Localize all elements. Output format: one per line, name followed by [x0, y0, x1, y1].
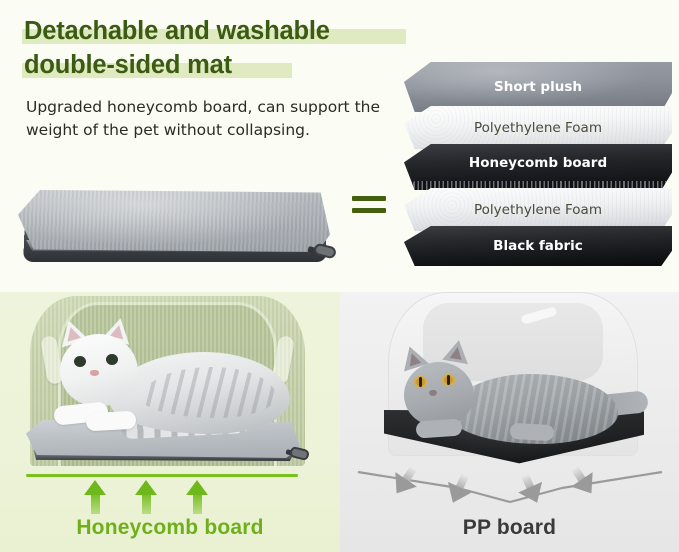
cat-eye-left — [414, 376, 427, 388]
zipper-icon — [286, 448, 308, 462]
cat-ear-right — [442, 338, 471, 364]
support-line-flat — [26, 474, 298, 477]
arrow-shaft — [91, 493, 100, 514]
headline-line-2-text: double-sided mat — [24, 51, 232, 79]
cat-head — [404, 362, 474, 426]
arrow-shaft — [142, 493, 151, 514]
equals-sign-icon — [352, 196, 386, 222]
arrow-head — [186, 480, 208, 495]
arrow-up-icon — [84, 480, 106, 514]
cat-head — [60, 334, 138, 406]
zipper-pull — [313, 243, 337, 260]
layer-label: Polyethylene Foam — [474, 120, 602, 136]
cat-white-tabby — [52, 324, 290, 442]
cat-eye-right — [442, 374, 455, 386]
cat-eye-left — [74, 356, 86, 367]
label-pp-board: PP board — [340, 516, 679, 540]
headline-line-1: Detachable and washable — [24, 14, 404, 48]
label-honeycomb-board: Honeycomb board — [0, 516, 340, 540]
layer-short-plush: Short plush — [404, 62, 672, 112]
cat-paw-front-right — [510, 423, 555, 441]
cat-nose — [429, 390, 437, 396]
layer-label: Honeycomb board — [469, 155, 607, 171]
comparison-panel-left: Honeycomb board — [0, 292, 340, 552]
comparison-section: Honeycomb board — [0, 292, 679, 552]
arrow-up-icon — [186, 480, 208, 514]
zipper-pull — [289, 446, 310, 461]
layer-label: Short plush — [494, 79, 582, 95]
headline: Detachable and washable double-sided mat — [24, 14, 404, 82]
mat-top-surface — [18, 190, 330, 252]
cat-nose — [90, 370, 99, 376]
mat-illustration — [10, 178, 340, 283]
layer-black-fabric: Black fabric — [404, 226, 672, 266]
top-section: Detachable and washable double-sided mat… — [0, 0, 679, 292]
equals-bar-top — [352, 196, 386, 201]
product-infographic: Detachable and washable double-sided mat… — [0, 0, 679, 552]
cat-gray-blue — [398, 348, 648, 454]
layer-polyethylene-foam-top: Polyethylene Foam — [404, 106, 672, 149]
cat-paw-front-right — [86, 411, 137, 432]
zipper-icon — [308, 244, 334, 260]
arrow-shaft — [193, 493, 202, 514]
headline-line-1-text: Detachable and washable — [24, 17, 330, 45]
equals-bar-bottom — [352, 208, 386, 213]
comparison-panel-right: PP board — [340, 292, 679, 552]
layer-stack-diagram: Short plush Polyethylene Foam Honeycomb … — [404, 58, 674, 270]
cat-paw-front-left — [415, 418, 462, 438]
cat-eye-right — [106, 354, 118, 365]
layer-label: Black fabric — [493, 238, 583, 254]
layer-polyethylene-foam-bottom: Polyethylene Foam — [404, 188, 672, 231]
layer-label: Polyethylene Foam — [474, 202, 602, 218]
arrow-up-icon — [135, 480, 157, 514]
arrow-head — [84, 480, 106, 495]
subtitle-text: Upgraded honeycomb board, can support th… — [26, 96, 398, 142]
arrow-head — [135, 480, 157, 495]
headline-line-2: double-sided mat — [24, 48, 404, 82]
layer-honeycomb-board: Honeycomb board — [404, 144, 672, 190]
